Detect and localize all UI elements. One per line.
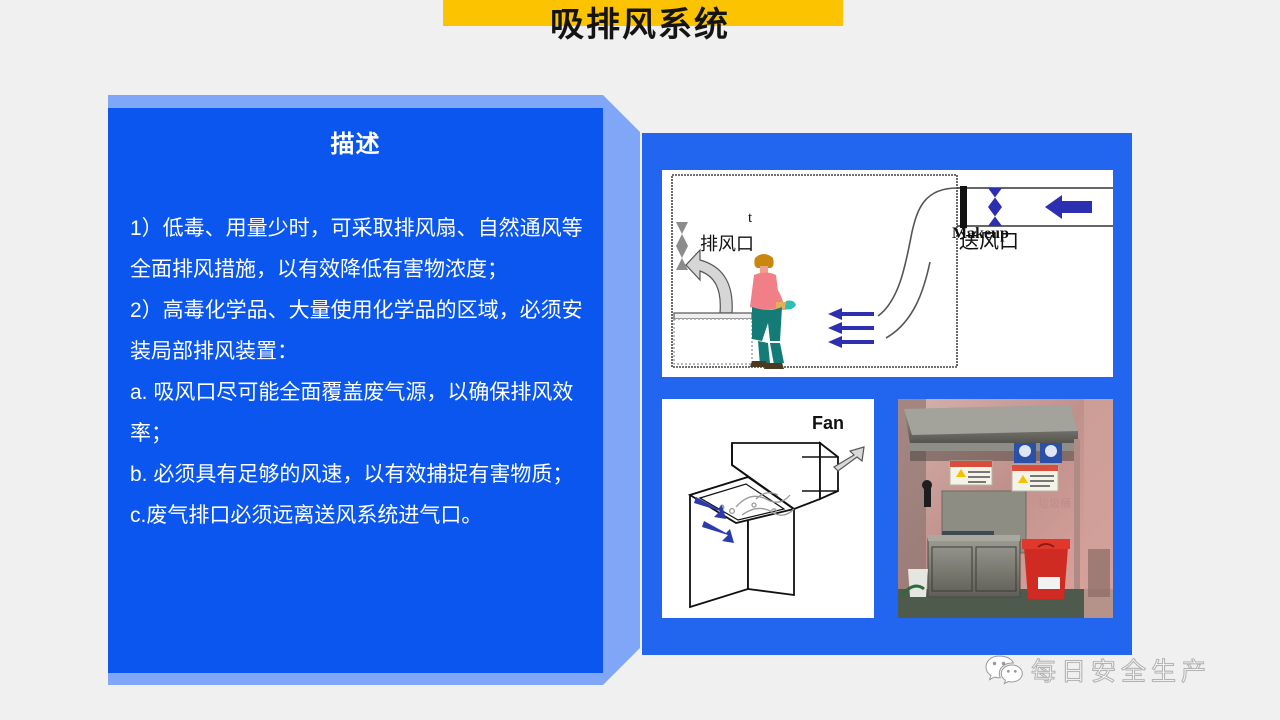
- supply-fan-icon: [988, 188, 1002, 226]
- description-heading: 描述: [108, 124, 603, 159]
- media-panel: Makeup 排风口 送风口 t: [642, 133, 1132, 655]
- exhaust-port-label: 排风口: [700, 234, 754, 255]
- description-paragraph-1: 1）低毒、用量少时，可采取排风扇、自然通风等全面排风措施，以有效降低有害物浓度；: [130, 208, 590, 290]
- capture-arrows-icon: [828, 308, 874, 348]
- room-diagram-svg: Makeup 排风口 送风口 t: [662, 170, 1113, 377]
- description-panel-face: 描述 1）低毒、用量少时，可采取排风扇、自然通风等全面排风措施，以有效降低有害物…: [108, 108, 603, 673]
- safety-sign-right: [1012, 465, 1058, 491]
- supply-port-label: 送风口: [959, 229, 1019, 253]
- room-ventilation-diagram: Makeup 排风口 送风口 t: [662, 170, 1113, 377]
- bin-label: 垃圾桶: [1038, 496, 1071, 510]
- enclosure-hood-diagram: Fan: [662, 399, 874, 618]
- safety-sign-left: [950, 461, 992, 485]
- page-title: 吸排风系统: [0, 2, 1280, 48]
- description-paragraph-2: 2）高毒化学品、大量使用化学品的区域，必须安装局部排风装置：: [130, 290, 590, 372]
- description-paragraph-3: a. 吸风口尽可能全面覆盖废气源，以确保排风效率；: [130, 372, 590, 454]
- makeup-air-arrow-icon: [1045, 195, 1092, 219]
- wechat-icon: [985, 654, 1023, 686]
- description-body: 1）低毒、用量少时，可采取排风扇、自然通风等全面排风措施，以有效降低有害物浓度；…: [130, 208, 590, 536]
- hood-diagram-svg: Fan: [662, 399, 874, 618]
- description-paragraph-5: c.废气排口必须远离送风系统进气口。: [130, 495, 590, 536]
- description-panel: 描述 1）低毒、用量少时，可采取排风扇、自然通风等全面排风措施，以有效降低有害物…: [108, 95, 640, 685]
- description-paragraph-4: b. 必须具有足够的风速，以有效捕捉有害物质；: [130, 454, 590, 495]
- watermark: 每日安全生产: [985, 650, 1211, 690]
- watermark-text: 每日安全生产: [1031, 652, 1211, 688]
- industrial-hood-photo: 垃圾桶: [898, 399, 1113, 618]
- red-waste-bin: [1022, 539, 1070, 599]
- hood-photo-svg: 垃圾桶: [898, 399, 1113, 618]
- fan-label: Fan: [812, 413, 844, 433]
